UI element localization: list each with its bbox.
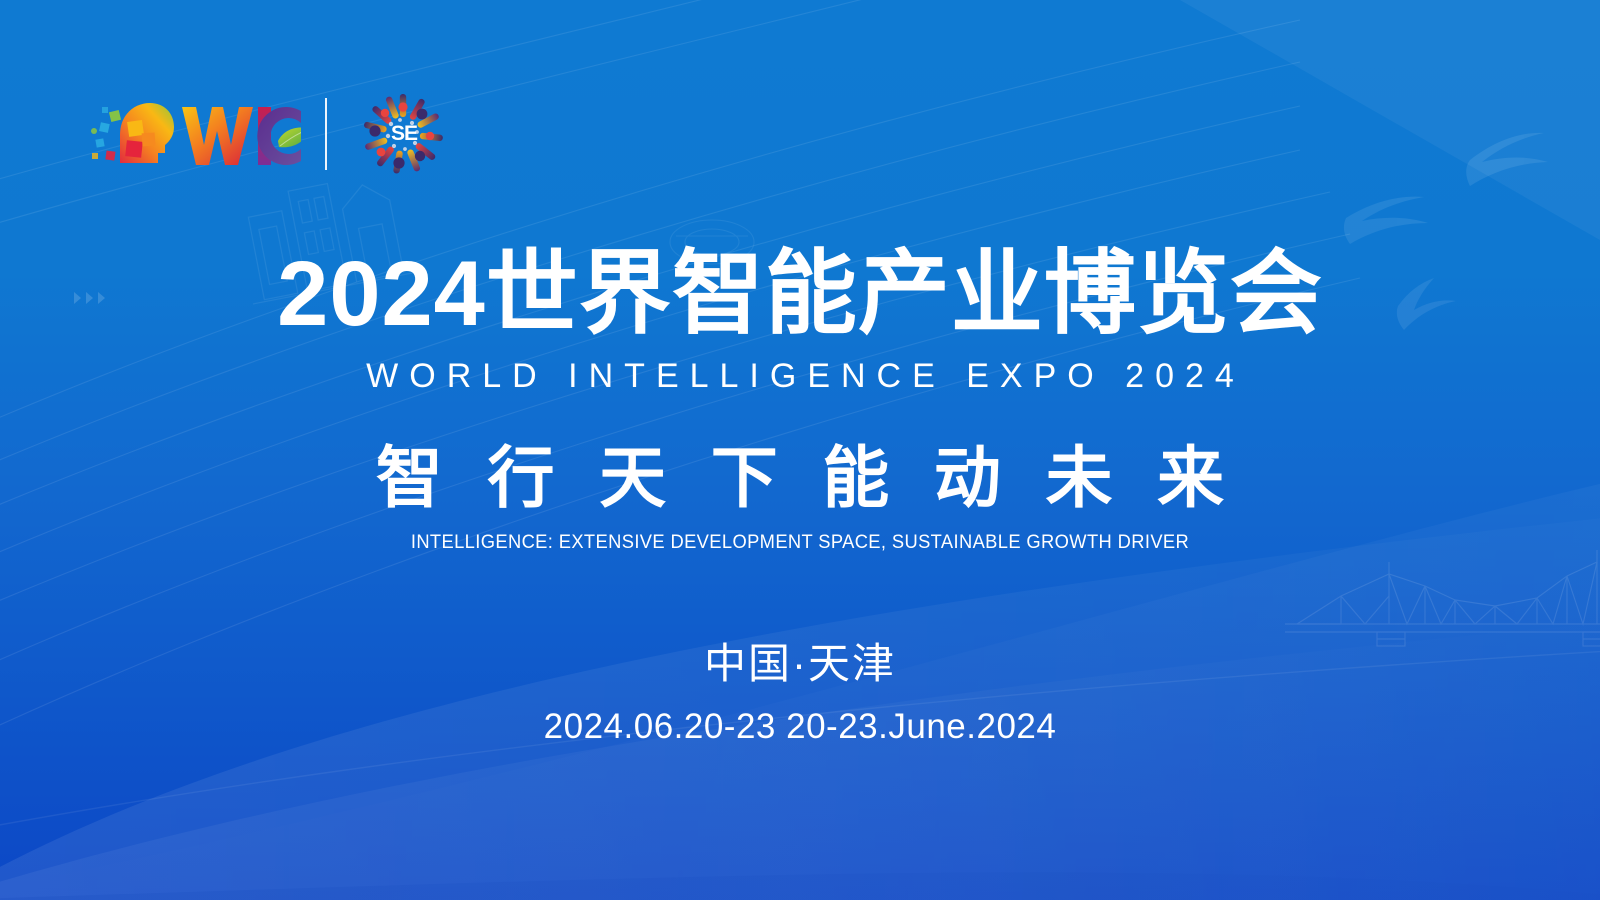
page-title-en: WORLD INTELLIGENCE EXPO 2024 [0,357,1600,396]
se-wordmark: SE [391,122,418,145]
se-logo[interactable]: SE [361,92,445,176]
expo-poster: SE 2024世界智能产业博览会 WORLD INTELLIGENCE EXPO… [0,0,1600,900]
page-title-cn: 2024世界智能产业博览会 [0,246,1600,343]
wic-logo[interactable] [86,91,301,177]
slogan-en: INTELLIGENCE: EXTENSIVE DEVELOPMENT SPAC… [48,531,1552,554]
event-dates: 2024.06.20-23 20-23.June.2024 [0,707,1600,747]
sheen-decoration [1180,0,1600,240]
event-location: 中国·天津 [0,630,1600,691]
wic-letter-w [182,107,253,165]
se-starburst-icon: SE [363,94,443,174]
logo-bar: SE [86,84,445,184]
wic-pixel-head-icon [91,103,174,163]
slogan-block: 智 行 天 下 能 动 未 来 INTELLIGENCE: EXTENSIVE … [0,424,1600,554]
slogan-cn: 智 行 天 下 能 动 未 来 [0,424,1600,521]
logo-divider [325,98,327,170]
title-block: 2024世界智能产业博览会 WORLD INTELLIGENCE EXPO 20… [0,246,1600,396]
footer-info: 中国·天津 2024.06.20-23 20-23.June.2024 [0,630,1600,747]
